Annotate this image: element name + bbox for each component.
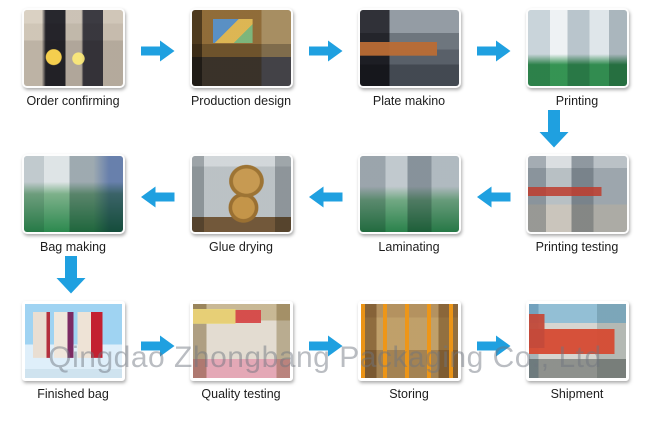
step-label-order-confirming: Order confirming (26, 95, 119, 109)
arrow-down-icon-printing-to-printing-testing (537, 110, 571, 148)
arrow-left-icon-3 (146, 144, 168, 287)
step-label-laminating: Laminating (378, 241, 439, 255)
storing-photo (361, 304, 458, 378)
arrow-left-icon-1 (482, 144, 504, 287)
bag-making-card[interactable] (22, 154, 125, 234)
printing-card[interactable] (526, 8, 629, 88)
step-label-shipment: Shipment (551, 388, 604, 402)
process-step-quality-testing[interactable]: Quality testing (168, 289, 314, 402)
printing-photo (528, 10, 627, 86)
laminating-photo (360, 156, 459, 232)
process-step-order-confirming[interactable]: Order confirming (0, 0, 146, 109)
arrow-right-icon-6 (482, 289, 504, 432)
process-step-bag-making[interactable]: Bag making (0, 144, 146, 255)
process-step-glue-drying[interactable]: Glue drying (168, 144, 314, 255)
step-label-bag-making: Bag making (40, 241, 106, 255)
process-step-printing[interactable]: Printing (504, 0, 650, 109)
glue-drying-card[interactable] (190, 154, 293, 234)
arrow-right-icon-4 (146, 289, 168, 432)
step-label-production-design: Production design (191, 95, 291, 109)
process-step-storing[interactable]: Storing (336, 289, 482, 402)
process-step-shipment[interactable]: Shipment (504, 289, 650, 402)
printing-testing-card[interactable] (526, 154, 629, 234)
arrow-right-icon-5 (314, 289, 336, 432)
process-step-laminating[interactable]: Laminating (336, 144, 482, 255)
finished-bag-photo (25, 304, 122, 378)
process-step-production-design[interactable]: Production design (168, 0, 314, 109)
quality-testing-photo (193, 304, 290, 378)
plate-making-card[interactable] (358, 8, 461, 88)
quality-testing-card[interactable] (190, 301, 293, 381)
storing-card[interactable] (358, 301, 461, 381)
process-step-printing-testing[interactable]: Printing testing (504, 144, 650, 255)
glue-drying-photo (192, 156, 291, 232)
order-confirming-photo (24, 10, 123, 86)
shipment-card[interactable] (526, 301, 629, 381)
order-confirming-card[interactable] (22, 8, 125, 88)
process-step-finished-bag[interactable]: Finished bag (0, 289, 146, 402)
process-flow-diagram: Order confirming Production design Plate… (0, 0, 650, 431)
finished-bag-card[interactable] (22, 301, 125, 381)
process-step-plate-making[interactable]: Plate makino (336, 0, 482, 109)
step-label-glue-drying: Glue drying (209, 241, 273, 255)
shipment-photo (529, 304, 626, 378)
arrow-right-icon-3 (482, 0, 504, 143)
step-label-printing-testing: Printing testing (536, 241, 619, 255)
arrow-right-icon-1 (146, 0, 168, 143)
step-label-storing: Storing (389, 388, 429, 402)
bag-making-photo (24, 156, 123, 232)
arrow-left-icon-2 (314, 144, 336, 287)
plate-making-photo (360, 10, 459, 86)
step-label-printing: Printing (556, 95, 598, 109)
step-label-quality-testing: Quality testing (201, 388, 280, 402)
process-row-2: Printing testing Laminating Glue drying (0, 144, 650, 287)
step-label-plate-making: Plate makino (373, 95, 445, 109)
production-design-card[interactable] (190, 8, 293, 88)
laminating-card[interactable] (358, 154, 461, 234)
step-label-finished-bag: Finished bag (37, 388, 109, 402)
production-design-photo (192, 10, 291, 86)
arrow-right-icon-2 (314, 0, 336, 143)
process-row-3: Finished bag Quality testing Storing (0, 289, 650, 432)
arrow-down-icon-bag-making-to-finished-bag (54, 256, 88, 294)
printing-testing-photo (528, 156, 627, 232)
